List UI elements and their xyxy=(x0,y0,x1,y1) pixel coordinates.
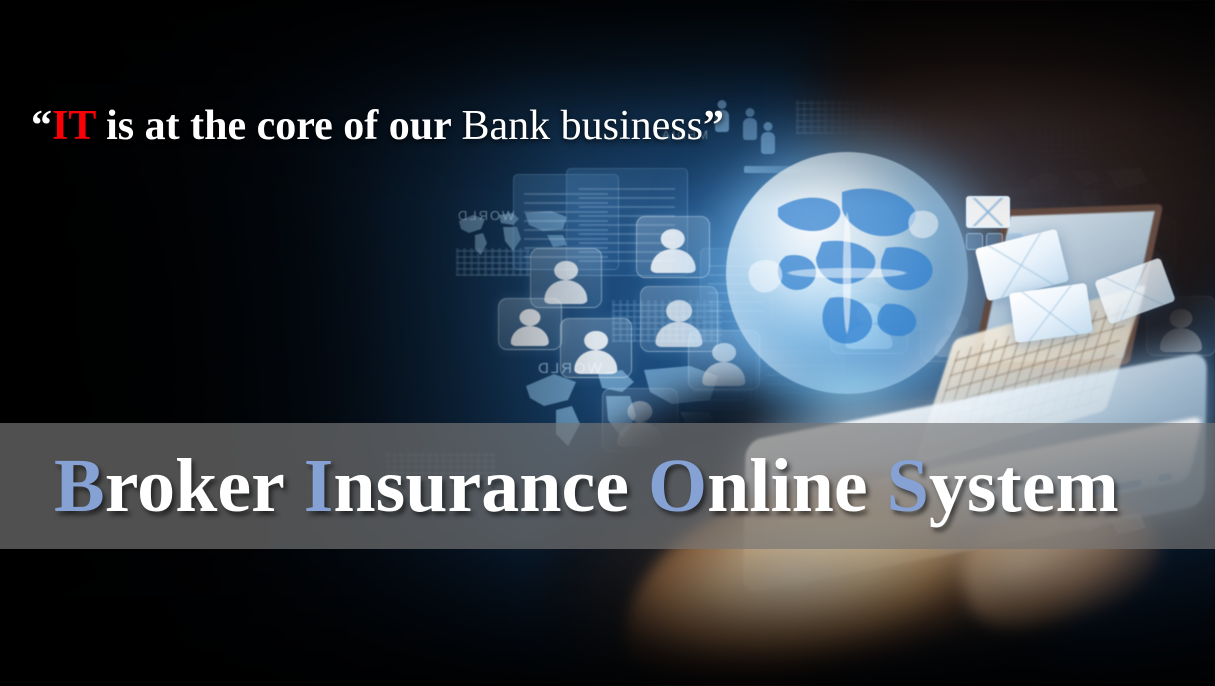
title-cap-b: B xyxy=(54,444,105,528)
slide-canvas: WORLD WORLD xyxy=(0,0,1215,686)
title-cap-o: O xyxy=(648,444,707,528)
quote-close-mark: ” xyxy=(703,103,724,149)
quote-light-text: Bank business xyxy=(462,103,704,149)
title-cap-i: I xyxy=(304,444,334,528)
quote-middle-text: is at the core of our xyxy=(96,103,462,149)
title-word-broker: Broker xyxy=(54,448,285,524)
title-rest-nline: nline xyxy=(707,444,868,528)
title-cap-s: S xyxy=(887,444,929,528)
title-word-system: System xyxy=(887,448,1119,524)
title-rest-ystem: ystem xyxy=(929,444,1119,528)
title-word-online: Online xyxy=(648,448,868,524)
page-title: Broker Insurance Online System xyxy=(0,423,1215,549)
headline-quote: “IT is at the core of our Bank business” xyxy=(31,105,724,147)
quote-accent-word: IT xyxy=(52,103,96,149)
title-rest-nsurance: nsurance xyxy=(333,444,629,528)
quote-open-mark: “ xyxy=(31,103,52,149)
title-word-insurance: Insurance xyxy=(304,448,629,524)
title-rest-roker: roker xyxy=(105,444,285,528)
